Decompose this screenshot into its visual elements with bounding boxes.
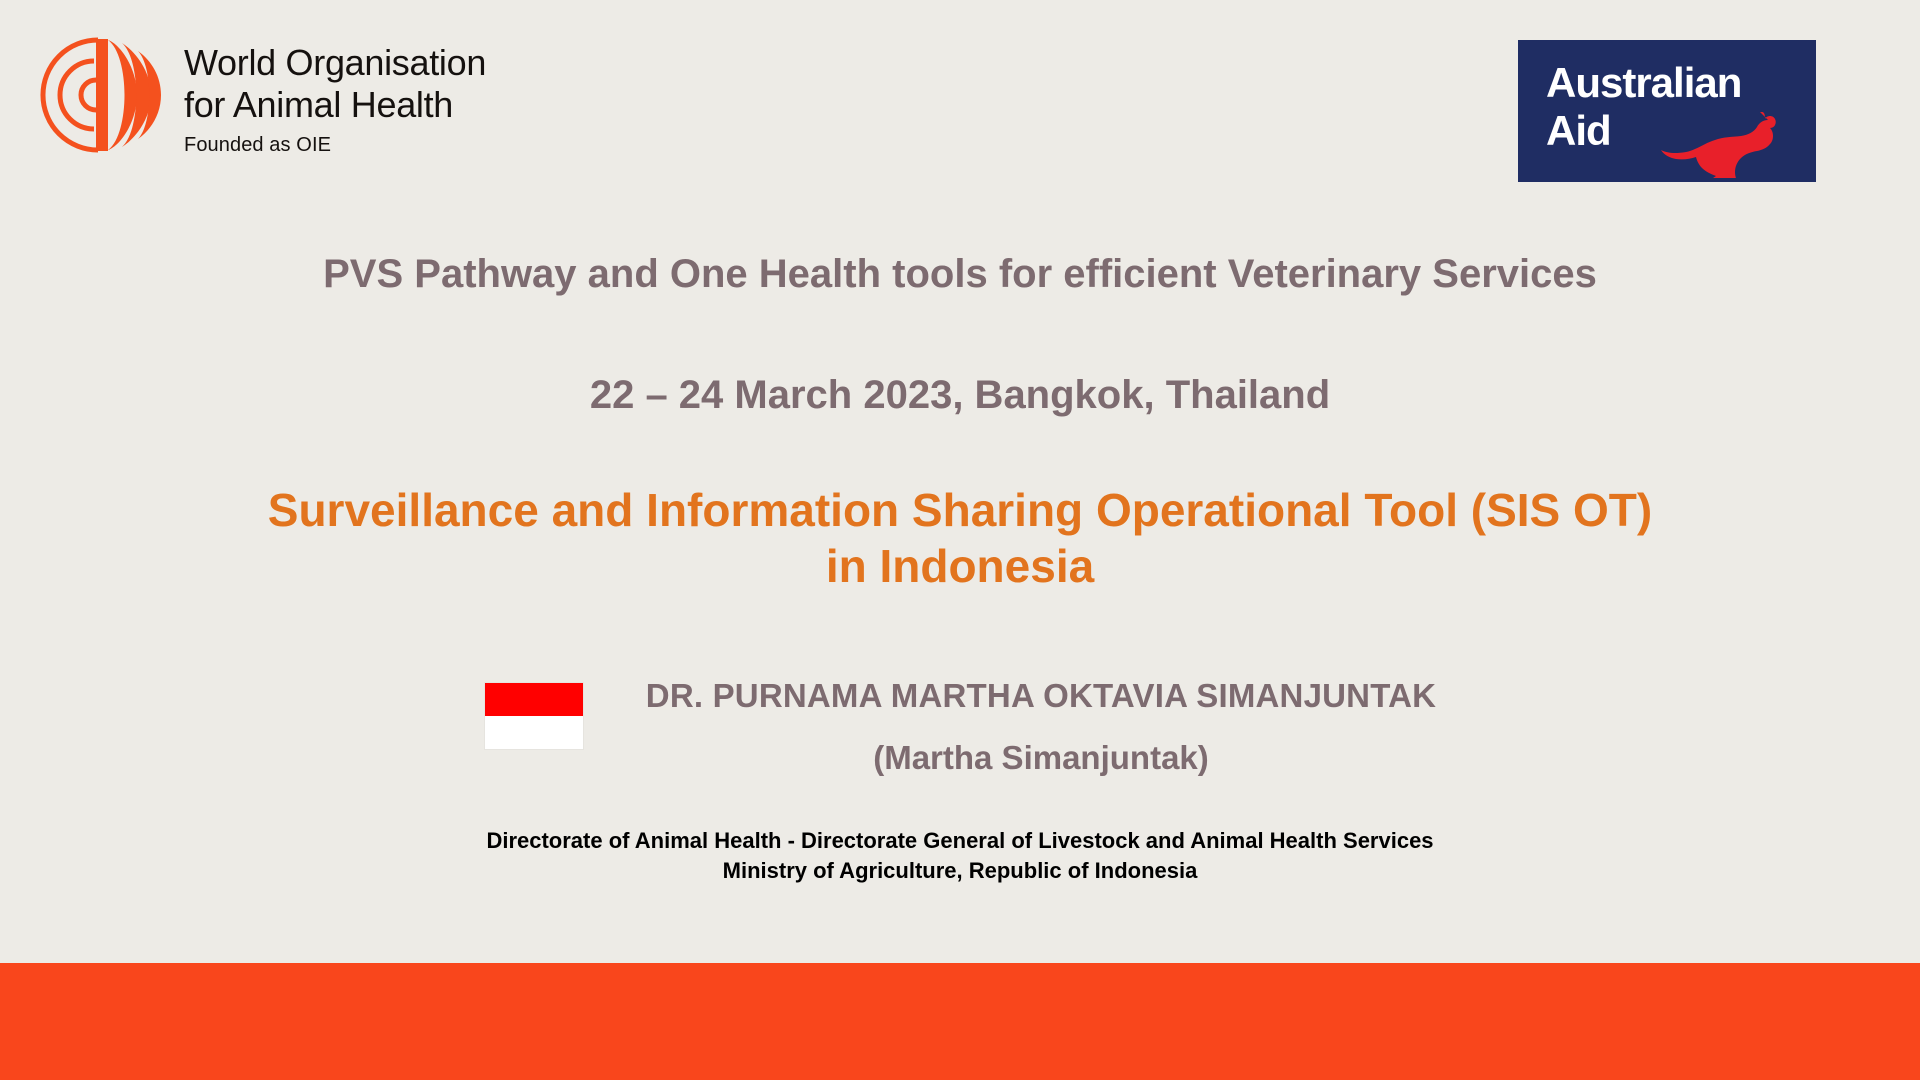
bottom-accent-band xyxy=(0,963,1920,1080)
presentation-title: Surveillance and Information Sharing Ope… xyxy=(120,482,1800,594)
kangaroo-icon xyxy=(1640,112,1800,178)
woah-logo: World Organisation for Animal Health Fou… xyxy=(38,34,486,157)
event-date: 22 – 24 March 2023, Bangkok, Thailand xyxy=(0,373,1920,418)
presenter-affiliation: Directorate of Animal Health - Directora… xyxy=(0,826,1920,887)
event-title: PVS Pathway and One Health tools for eff… xyxy=(0,252,1920,297)
woah-wordmark: World Organisation for Animal Health Fou… xyxy=(184,34,486,157)
flag-stripe-red xyxy=(485,683,583,716)
woah-globe-icon xyxy=(38,34,166,156)
presenter-block: DR. PURNAMA MARTHA OKTAVIA SIMANJUNTAK (… xyxy=(0,676,1920,777)
flag-stripe-white xyxy=(485,716,583,749)
presenter-alias: (Martha Simanjuntak) xyxy=(646,738,1436,778)
australian-aid-line1: Australian xyxy=(1546,62,1741,104)
indonesia-flag-icon xyxy=(484,682,584,750)
woah-organisation-name: World Organisation for Animal Health xyxy=(184,42,486,126)
australian-aid-line2: Aid xyxy=(1546,110,1611,152)
woah-founded-as: Founded as OIE xyxy=(184,134,486,157)
presenter-names: DR. PURNAMA MARTHA OKTAVIA SIMANJUNTAK (… xyxy=(646,676,1436,777)
presentation-slide: World Organisation for Animal Health Fou… xyxy=(0,0,1920,1080)
presenter-full-name: DR. PURNAMA MARTHA OKTAVIA SIMANJUNTAK xyxy=(646,676,1436,716)
australian-aid-logo: Australian Aid xyxy=(1518,40,1816,182)
